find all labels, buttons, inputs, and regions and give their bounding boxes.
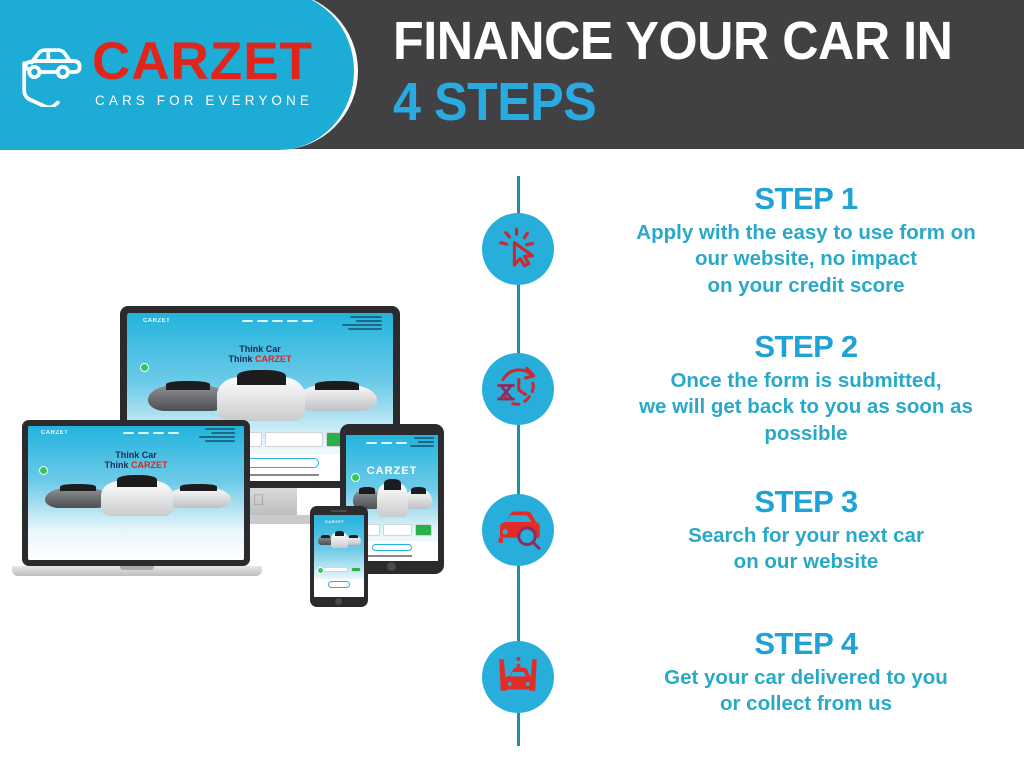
step-2-body-line: Once the form is submitted, [600,368,1012,394]
contact-line [205,440,235,442]
footer-text [366,555,412,557]
car-image-silver [166,488,231,508]
car-image-silver [405,490,433,509]
car-image-dark [148,385,228,410]
contact-line [205,428,235,430]
website-logo: CARZET [143,318,170,324]
car-image-white [101,481,172,516]
contact-line [348,328,382,330]
step-2-text: STEP 2 Once the form is submitted, we wi… [600,330,1012,447]
car-image-silver [346,536,361,545]
step-3-body-line: on our website [600,549,1012,575]
header-title-line1: FINANCE YOUR CAR IN [393,14,970,69]
nav-item [366,442,377,444]
step-4-body-line: or collect from us [600,691,1012,717]
hero-line2-prefix: Think [105,460,132,470]
step-4-body: Get your car delivered to you or collect… [600,665,1012,717]
tablet-home-button[interactable] [387,562,396,571]
website-nav [123,432,179,434]
website-contact-info [410,437,434,449]
car-roof [180,484,216,491]
contact-line [356,320,382,322]
nav-item [272,320,283,322]
laptop-mockup: CARZET [12,420,262,584]
car-roof [117,475,157,487]
nav-item [257,320,268,322]
step-2-body: Once the form is submitted, we will get … [600,368,1012,447]
hero-line2-brand: CARZET [255,354,292,364]
website-nav [242,320,313,322]
step-4-icon-circle [482,641,554,713]
nav-item [381,442,392,444]
step-1-title: STEP 1 [600,182,1012,216]
brand-tagline: CARS FOR EVERYONE [95,93,313,108]
hero-line2: Think CARZET [28,461,244,471]
hero-car-images [28,475,244,531]
step-3-body-line: Search for your next car [600,523,1012,549]
contact-line [418,441,434,443]
contact-line [342,324,382,326]
step-1-body: Apply with the easy to use form on our w… [600,220,1012,299]
website-logo: CARZET [41,430,68,436]
car-roof [349,535,357,538]
contact-line [414,437,434,439]
search-submit-button[interactable] [415,524,433,535]
website-header: CARZET [28,426,244,455]
website-header: CARZET [127,313,393,350]
laptop-notch [120,566,154,570]
website-footer [314,579,364,597]
nav-item [153,432,164,434]
hero-line2-brand: CARZET [131,460,168,470]
device-mockups: CARZET [0,296,470,606]
search-submit-button[interactable] [351,567,361,573]
car-roof [411,487,426,493]
contact-line [350,316,382,318]
nav-item [168,432,179,434]
laptop-screen: CARZET [28,426,244,560]
car-image-white [217,377,305,421]
car-search-icon [494,504,542,557]
phone-body: CARZET [310,506,368,607]
phone-screen: CARZET [314,515,364,597]
car-roof [335,531,344,536]
step-4-text: STEP 4 Get your car delivered to you or … [600,627,1012,718]
nav-item [287,320,298,322]
header-title-line2: 4 STEPS [393,75,970,130]
website-logo: CARZET [325,519,344,524]
website-preview-mobile: CARZET [314,515,364,597]
car-roof [359,487,374,493]
finance-deals-button[interactable] [328,581,350,588]
step-1-text: STEP 1 Apply with the easy to use form o… [600,182,1012,299]
clock-hourglass-icon [494,363,542,416]
car-roof [60,484,96,491]
hero-line2-prefix: Think [229,354,256,364]
website-nav [366,442,407,444]
mouse-click-icon [495,224,541,275]
hero-car-images [314,531,364,556]
car-roof [321,535,329,538]
car-image-dark [45,488,110,508]
brand-name: CARZET [92,36,313,88]
contact-line [211,432,235,434]
phone-home-button[interactable] [335,598,342,605]
smartphone-mockup: CARZET [310,506,368,607]
header-bar: CARZET CARS FOR EVERYONE FINANCE YOUR CA… [0,0,1024,149]
brand-logo-panel: CARZET CARS FOR EVERYONE [0,0,358,150]
car-image-white [377,484,407,517]
step-1-body-line: Apply with the easy to use form on [600,220,1012,246]
website-contact-info [199,428,235,444]
whatsapp-icon[interactable] [39,466,48,475]
contact-line [410,445,434,447]
search-select-model[interactable] [383,524,412,535]
step-2-icon-circle [482,353,554,425]
nav-item [242,320,253,322]
finance-deals-button[interactable] [372,544,412,552]
contact-line [199,436,235,438]
car-roof [315,381,360,390]
step-3-icon-circle [482,494,554,566]
car-shield-icon [12,37,86,107]
laptop-lid: CARZET [22,420,250,566]
search-select-price[interactable] [265,432,323,447]
car-roof [166,381,211,390]
step-2-title: STEP 2 [600,330,1012,364]
nav-item [123,432,134,434]
step-1-body-line: our website, no impact [600,246,1012,272]
website-logo-large: CARZET [346,465,438,477]
step-4-title: STEP 4 [600,627,1012,661]
website-header [346,435,438,463]
step-2-body-line: we will get back to you as soon as [600,394,1012,420]
step-4-body-line: Get your car delivered to you [600,665,1012,691]
whatsapp-icon[interactable] [317,567,324,574]
car-delivery-icon [494,651,542,704]
website-header: CARZET [314,515,364,530]
whatsapp-icon[interactable] [351,473,360,482]
step-1-icon-circle [482,213,554,285]
website-preview-laptop: CARZET [28,426,244,560]
website-search-bar [317,567,361,573]
infographic-page: CARZET CARS FOR EVERYONE FINANCE YOUR CA… [0,0,1024,768]
website-contact-info [342,316,382,332]
step-3-text: STEP 3 Search for your next car on our w… [600,485,1012,576]
car-image-white [331,533,348,548]
nav-item [396,442,407,444]
step-1-body-line: on your credit score [600,273,1012,299]
step-2-body-line: possible [600,421,1012,447]
nav-item [138,432,149,434]
nav-item [302,320,313,322]
car-image-silver [297,385,377,410]
brand-wordmark: CARZET CARS FOR EVERYONE [92,36,313,108]
step-3-body: Search for your next car on our website [600,523,1012,575]
hero-line2: Think CARZET [127,355,393,365]
header-title: FINANCE YOUR CAR IN 4 STEPS [393,14,1013,130]
phone-speaker [331,510,347,512]
car-roof [384,479,401,490]
step-3-title: STEP 3 [600,485,1012,519]
website-hero: CARZET [346,465,438,477]
car-roof [237,370,286,385]
